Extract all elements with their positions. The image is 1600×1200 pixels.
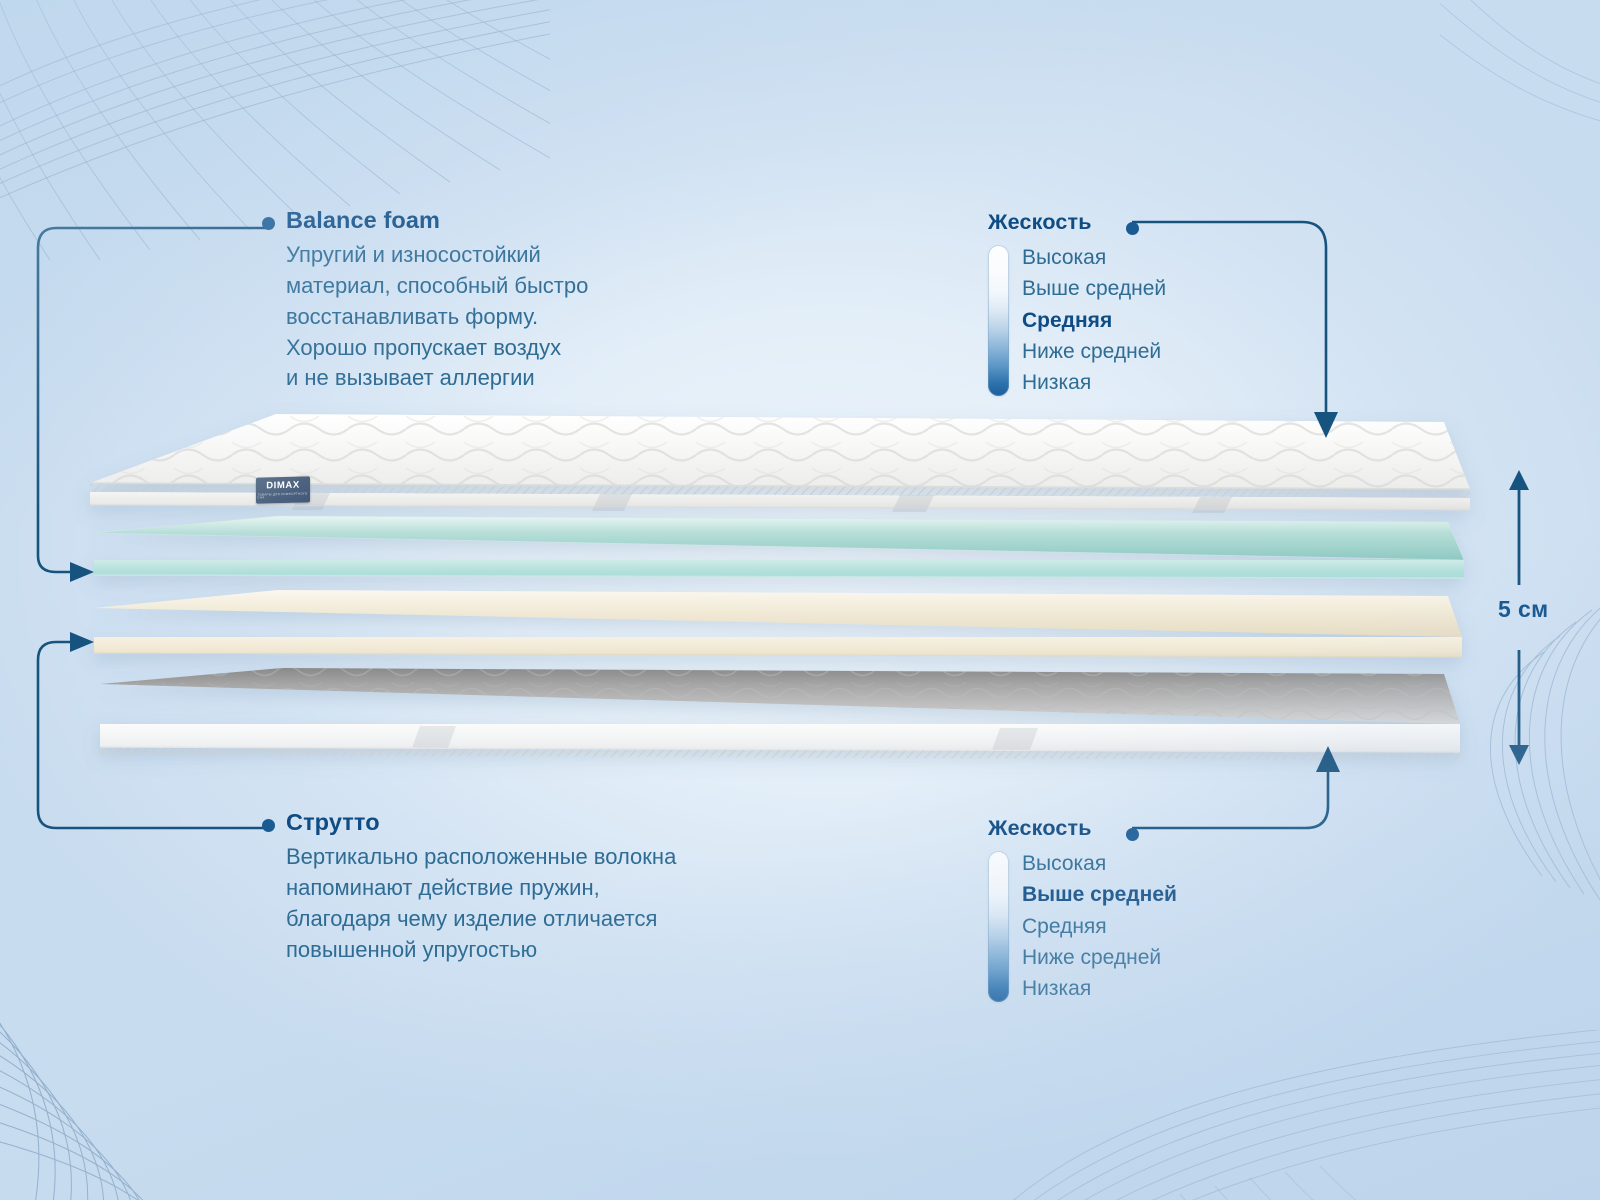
hardness-bullet-dot	[1126, 828, 1139, 841]
hardness-gradient-bar	[988, 245, 1009, 396]
dimax-logo-tag: DIMAX ТОВАРЫ ДЛЯ КОМФОРТНОГО СНА	[256, 476, 310, 503]
layer-mint-foam	[94, 516, 1464, 578]
hardness-option-selected[interactable]: Средняя	[1022, 305, 1166, 336]
hardness-title: Жескость	[988, 816, 1177, 841]
hardness-option[interactable]: Высокая	[1022, 242, 1166, 273]
hardness-option-selected[interactable]: Выше средней	[1022, 879, 1177, 910]
desc-line: и не вызывает аллергии	[286, 363, 588, 394]
desc-line: напоминают действие пружин,	[286, 873, 676, 904]
callout-title: Струтто	[286, 810, 676, 836]
desc-line: благодаря чему изделие отличается	[286, 904, 676, 935]
layer-cream-foam	[94, 590, 1462, 657]
hardness-scale-bottom: Жескость Высокая Выше средней Средняя Ни…	[988, 816, 1177, 1004]
hardness-option[interactable]: Средняя	[1022, 911, 1177, 942]
mattress-layers-illustration	[0, 0, 1600, 1200]
hardness-gradient-bar	[988, 851, 1009, 1002]
hardness-title: Жескость	[988, 210, 1166, 235]
hardness-option[interactable]: Ниже средней	[1022, 942, 1177, 973]
hardness-option[interactable]: Низкая	[1022, 973, 1177, 1004]
callout-description: Упругий и износостойкий материал, способ…	[286, 240, 588, 395]
hardness-options: Высокая Выше средней Средняя Ниже средне…	[1022, 242, 1166, 398]
logo-text: DIMAX	[266, 481, 300, 491]
callout-bullet-dot	[262, 819, 275, 832]
hardness-bullet-dot	[1126, 222, 1139, 235]
hardness-option[interactable]: Высокая	[1022, 848, 1177, 879]
hardness-scale-top: Жескость Высокая Выше средней Средняя Ни…	[988, 210, 1166, 398]
logo-tagline: ТОВАРЫ ДЛЯ КОМФОРТНОГО СНА	[257, 492, 308, 499]
hardness-option[interactable]: Ниже средней	[1022, 336, 1166, 367]
callout-title: Balance foam	[286, 208, 588, 234]
callout-balance-foam: Balance foam Упругий и износостойкий мат…	[286, 208, 588, 394]
hardness-option[interactable]: Низкая	[1022, 367, 1166, 398]
desc-line: Упругий и износостойкий	[286, 240, 588, 271]
layer-bottom-cover-quilted	[100, 668, 1460, 760]
dimension-label: 5 см	[1498, 596, 1549, 623]
infographic-canvas: DIMAX ТОВАРЫ ДЛЯ КОМФОРТНОГО СНА Balance…	[0, 0, 1600, 1200]
desc-line: повышенной упругостью	[286, 935, 676, 966]
desc-line: восстанавливать форму.	[286, 302, 588, 333]
desc-line: материал, способный быстро	[286, 271, 588, 302]
hardness-option[interactable]: Выше средней	[1022, 273, 1166, 304]
hardness-options: Высокая Выше средней Средняя Ниже средне…	[1022, 848, 1177, 1004]
desc-line: Хорошо пропускает воздух	[286, 333, 588, 364]
callout-strutto: Струтто Вертикально расположенные волокн…	[286, 810, 676, 965]
callout-description: Вертикально расположенные волокна напоми…	[286, 842, 676, 966]
desc-line: Вертикально расположенные волокна	[286, 842, 676, 873]
callout-bullet-dot	[262, 217, 275, 230]
